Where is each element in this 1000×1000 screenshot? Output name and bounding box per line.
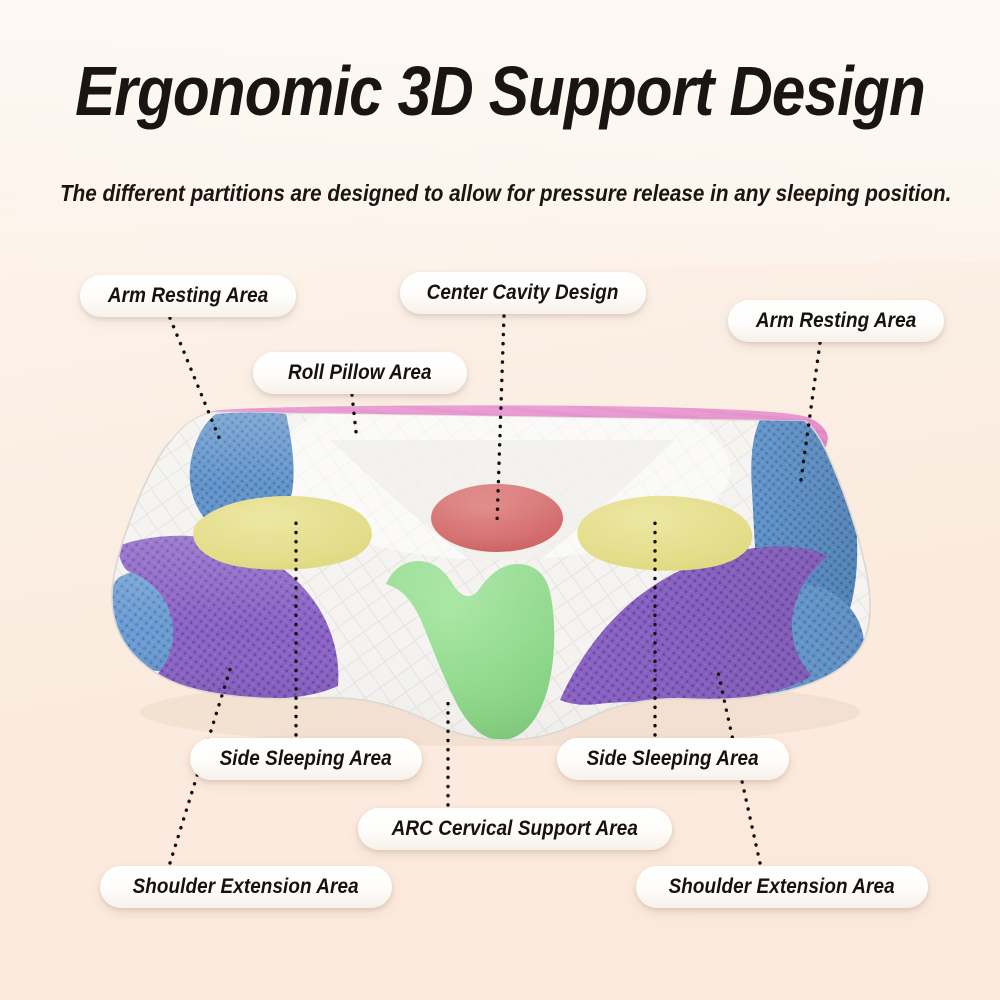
callout-shoulder-extension-left[interactable]: Shoulder Extension Area <box>100 866 392 908</box>
callout-side-sleeping-left[interactable]: Side Sleeping Area <box>190 738 422 780</box>
callout-label: Arm Resting Area <box>756 309 916 333</box>
callout-label: Shoulder Extension Area <box>133 875 359 899</box>
callout-arc-cervical-support[interactable]: ARC Cervical Support Area <box>358 808 672 850</box>
pillow-illustration <box>0 0 1000 1000</box>
callout-center-cavity[interactable]: Center Cavity Design <box>400 272 646 314</box>
callout-label: Center Cavity Design <box>427 281 619 305</box>
callout-label: ARC Cervical Support Area <box>392 817 638 841</box>
callout-side-sleeping-right[interactable]: Side Sleeping Area <box>557 738 789 780</box>
callout-label: Side Sleeping Area <box>587 747 759 771</box>
callout-label: Side Sleeping Area <box>220 747 392 771</box>
callout-shoulder-extension-right[interactable]: Shoulder Extension Area <box>636 866 928 908</box>
infographic-canvas: Ergonomic 3D Support Design The differen… <box>0 0 1000 1000</box>
callout-roll-pillow[interactable]: Roll Pillow Area <box>253 352 467 394</box>
callout-arm-resting-left[interactable]: Arm Resting Area <box>80 275 296 317</box>
callout-label: Arm Resting Area <box>108 284 268 308</box>
callout-arm-resting-right[interactable]: Arm Resting Area <box>728 300 944 342</box>
callout-label: Roll Pillow Area <box>288 361 432 385</box>
callout-label: Shoulder Extension Area <box>669 875 895 899</box>
